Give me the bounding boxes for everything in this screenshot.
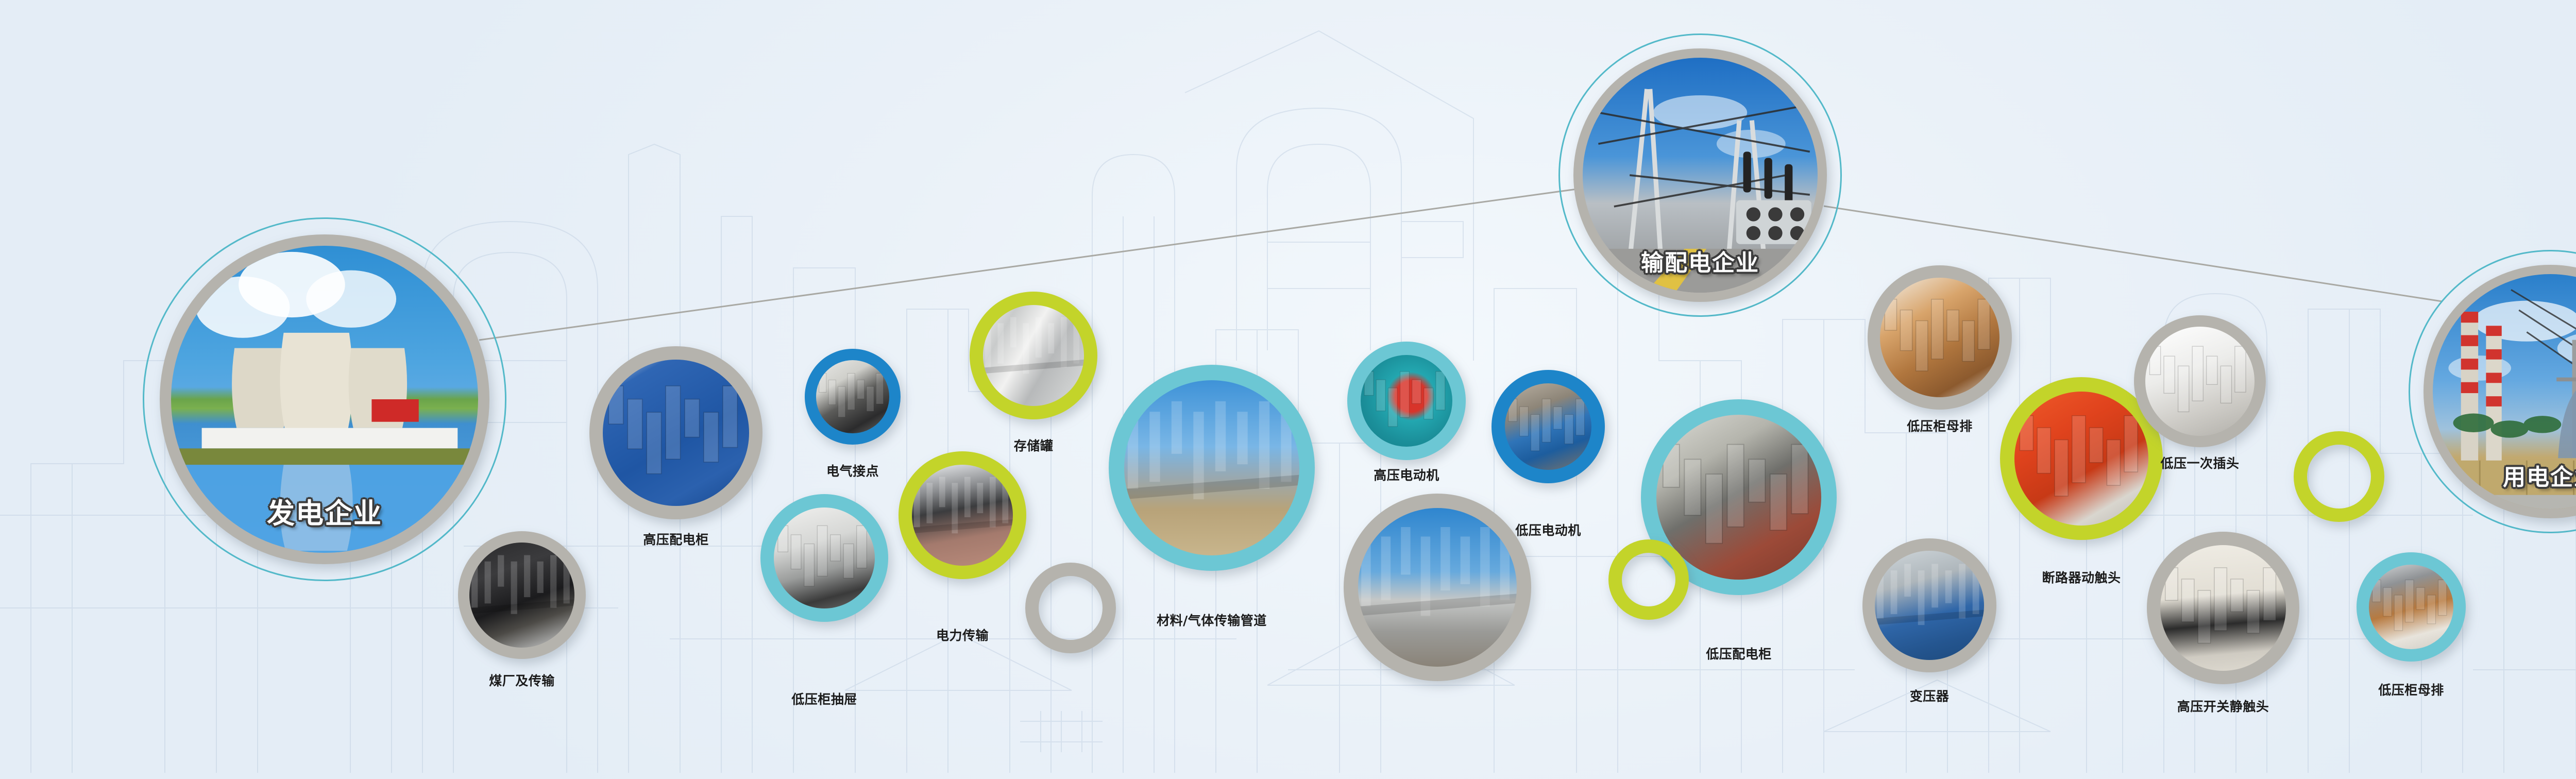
item-label-hv-distribution-cabinet: 高压配电柜 xyxy=(643,530,709,548)
photo-coal-conveyor xyxy=(469,543,574,648)
ring-outline-empty-ring-gray-left xyxy=(1025,563,1116,653)
photo-busbar-terminal-photo xyxy=(2369,565,2453,649)
ring-material-gas-pipeline xyxy=(1109,365,1315,571)
item-label-power-transmission: 电力传输 xyxy=(936,625,989,644)
item-node-coal-plant-transport[interactable] xyxy=(458,531,586,659)
ring-hv-motor xyxy=(1347,342,1466,460)
hero-label-power-consumption: 用电企业 xyxy=(2503,459,2576,492)
photo-hv-insulators-yard xyxy=(912,465,1013,566)
ring-hv-switch-static-contact xyxy=(2147,532,2299,684)
item-label-hv-motor: 高压电动机 xyxy=(1374,465,1439,484)
decor-ring-empty-ring-lime-mid xyxy=(1608,539,1689,620)
item-node-hv-switch-static-contact[interactable] xyxy=(2147,532,2299,684)
item-node-industrial-chimney-plant[interactable] xyxy=(1344,494,1531,681)
decor-ring-empty-ring-lime-right xyxy=(2294,431,2384,522)
photo-copper-busbar-closeup xyxy=(1880,278,1999,397)
item-node-transformer[interactable] xyxy=(1862,538,1996,672)
ring-electrical-contact-point xyxy=(805,349,901,445)
item-node-power-transmission[interactable] xyxy=(899,451,1026,579)
item-node-electrical-contact-point[interactable] xyxy=(805,349,901,445)
hero-node-transmission-distribution[interactable]: 输配电企业 xyxy=(1573,48,1827,302)
ring-lv-primary-plug xyxy=(2134,315,2266,447)
ring-lv-motor xyxy=(1492,370,1605,483)
hero-node-power-generation[interactable]: 发电企业 xyxy=(160,234,489,564)
photo-breaker-terminal-block xyxy=(816,360,889,433)
item-label-coal-plant-transport: 煤厂及传输 xyxy=(489,671,555,689)
item-node-storage-tank[interactable] xyxy=(970,292,1097,419)
item-label-lv-distribution-cabinet: 低压配电柜 xyxy=(1706,644,1772,663)
item-label-lv-cabinet-drawer: 低压柜抽屉 xyxy=(791,689,857,708)
photo-lv-cabinet-drawer-photo xyxy=(774,507,875,608)
ring-power-transmission xyxy=(899,451,1026,579)
item-label-lv-cabinet-busbar-right: 低压柜母排 xyxy=(2378,680,2444,699)
item-label-breaker-moving-contact: 断路器动触头 xyxy=(2042,568,2121,586)
ring-coal-plant-transport xyxy=(458,531,586,659)
hero-node-power-consumption[interactable]: 用电企业 xyxy=(2424,265,2576,518)
photo-blue-hv-switchgear xyxy=(603,360,749,506)
photo-cable-lugs-plug xyxy=(2145,327,2255,436)
item-node-hv-motor[interactable] xyxy=(1347,342,1466,460)
item-label-lv-cabinet-busbar-left: 低压柜母排 xyxy=(1907,416,1973,435)
ring-outline-empty-ring-lime-mid xyxy=(1608,539,1689,620)
photo-chimney-plant-photo xyxy=(1358,508,1517,667)
photo-silo-storage-tanks xyxy=(983,305,1084,406)
decor-ring-empty-ring-gray-left xyxy=(1025,563,1116,653)
photo-red-breaker-poles xyxy=(2014,392,2148,526)
item-node-lv-motor[interactable] xyxy=(1492,370,1605,483)
ring-hv-distribution-cabinet xyxy=(589,346,762,519)
item-node-lv-primary-plug[interactable] xyxy=(2134,315,2266,447)
item-node-lv-cabinet-busbar-right[interactable] xyxy=(2357,552,2466,662)
photo-large-motor-rotor xyxy=(1361,355,1452,447)
ring-storage-tank xyxy=(970,292,1097,419)
ring-transformer xyxy=(1862,538,1996,672)
item-node-material-gas-pipeline[interactable] xyxy=(1109,365,1315,571)
photo-switch-static-contact xyxy=(2160,545,2286,671)
item-label-lv-primary-plug: 低压一次插头 xyxy=(2160,453,2239,472)
photo-small-blue-motor xyxy=(1505,383,1591,470)
item-node-hv-distribution-cabinet[interactable] xyxy=(589,346,762,519)
photo-blue-transformer-bank xyxy=(1875,551,1984,660)
item-label-material-gas-pipeline: 材料/气体传输管道 xyxy=(1157,611,1267,629)
ring-outline-empty-ring-lime-right xyxy=(2294,431,2384,522)
hero-label-power-generation: 发电企业 xyxy=(267,490,382,531)
ring-lv-cabinet-busbar-right xyxy=(2357,552,2466,662)
hero-label-transmission-distribution: 输配电企业 xyxy=(1641,244,1759,277)
item-label-transformer: 变压器 xyxy=(1910,686,1950,705)
ring-industrial-chimney-plant xyxy=(1344,494,1531,681)
infographic-canvas: 发电企业 xyxy=(0,0,2576,779)
photo-pipe-rack-corridor xyxy=(1124,380,1299,555)
item-label-electrical-contact-point: 电气接点 xyxy=(826,461,879,480)
item-node-lv-cabinet-busbar-left[interactable] xyxy=(1868,265,2012,410)
item-node-lv-cabinet-drawer[interactable] xyxy=(760,494,888,622)
ring-lv-cabinet-drawer xyxy=(760,494,888,622)
item-label-hv-switch-static-contact: 高压开关静触头 xyxy=(2177,697,2269,715)
ring-lv-cabinet-busbar-left xyxy=(1868,265,2012,410)
